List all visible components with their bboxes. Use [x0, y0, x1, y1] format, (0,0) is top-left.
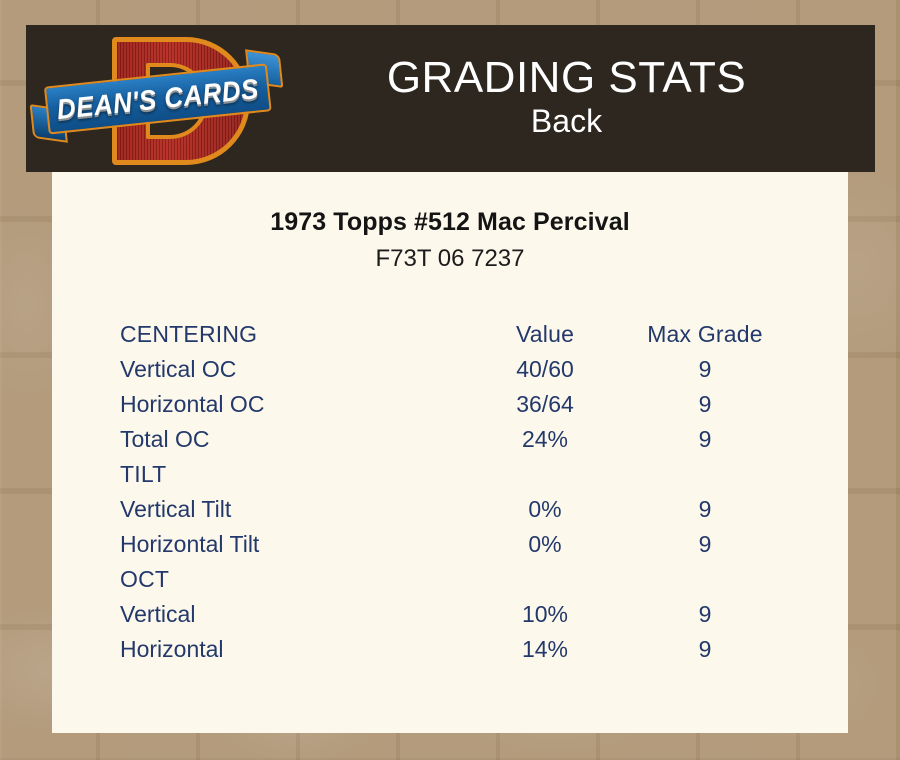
stat-max-grade: 9	[630, 597, 780, 632]
section-title: OCT	[120, 562, 460, 597]
column-header-value	[460, 457, 630, 492]
stat-label: Total OC	[120, 422, 460, 457]
card-serial-number: F73T 06 7237	[52, 245, 848, 273]
stat-label: Horizontal Tilt	[120, 527, 460, 562]
stat-label: Horizontal	[120, 632, 460, 667]
column-header-value	[460, 562, 630, 597]
section-header-row: OCT	[120, 562, 780, 597]
stat-max-grade: 9	[630, 632, 780, 667]
section-title: CENTERING	[120, 317, 460, 352]
column-header-max-grade: Max Grade	[630, 317, 780, 352]
section-title: TILT	[120, 457, 460, 492]
table-row: Total OC24%9	[120, 422, 780, 457]
stat-label: Vertical OC	[120, 352, 460, 387]
stat-max-grade: 9	[630, 527, 780, 562]
section-header-row: TILT	[120, 457, 780, 492]
page-title: GRADING STATS	[288, 55, 845, 101]
stat-value: 0%	[460, 492, 630, 527]
table-row: Vertical OC40/609	[120, 352, 780, 387]
stat-value: 14%	[460, 632, 630, 667]
stat-max-grade: 9	[630, 492, 780, 527]
content-panel: 1973 Topps #512 Mac Percival F73T 06 723…	[52, 172, 848, 733]
stat-label: Vertical Tilt	[120, 492, 460, 527]
table-row: Vertical Tilt0%9	[120, 492, 780, 527]
page-subtitle: Back	[288, 101, 845, 143]
table-row: Horizontal14%9	[120, 632, 780, 667]
stat-label: Horizontal OC	[120, 387, 460, 422]
stat-value: 0%	[460, 527, 630, 562]
header-title-group: GRADING STATS Back	[288, 55, 875, 143]
column-header-max-grade	[630, 457, 780, 492]
stat-value: 24%	[460, 422, 630, 457]
stat-max-grade: 9	[630, 352, 780, 387]
table-row: Horizontal Tilt0%9	[120, 527, 780, 562]
stat-max-grade: 9	[630, 422, 780, 457]
table-row: Vertical10%9	[120, 597, 780, 632]
deans-cards-logo[interactable]: DEAN'S CARDS	[26, 25, 288, 172]
column-header-value: Value	[460, 317, 630, 352]
table-row: Horizontal OC36/649	[120, 387, 780, 422]
stat-label: Vertical	[120, 597, 460, 632]
stat-max-grade: 9	[630, 387, 780, 422]
grading-stats-table: CENTERINGValueMax GradeVertical OC40/609…	[120, 317, 780, 667]
column-header-max-grade	[630, 562, 780, 597]
card-title: 1973 Topps #512 Mac Percival	[52, 208, 848, 237]
stat-value: 40/60	[460, 352, 630, 387]
stat-value: 36/64	[460, 387, 630, 422]
logo-wordmark: DEAN'S CARDS	[55, 72, 260, 127]
section-header-row: CENTERINGValueMax Grade	[120, 317, 780, 352]
stat-value: 10%	[460, 597, 630, 632]
header-bar: DEAN'S CARDS GRADING STATS Back	[26, 25, 875, 172]
